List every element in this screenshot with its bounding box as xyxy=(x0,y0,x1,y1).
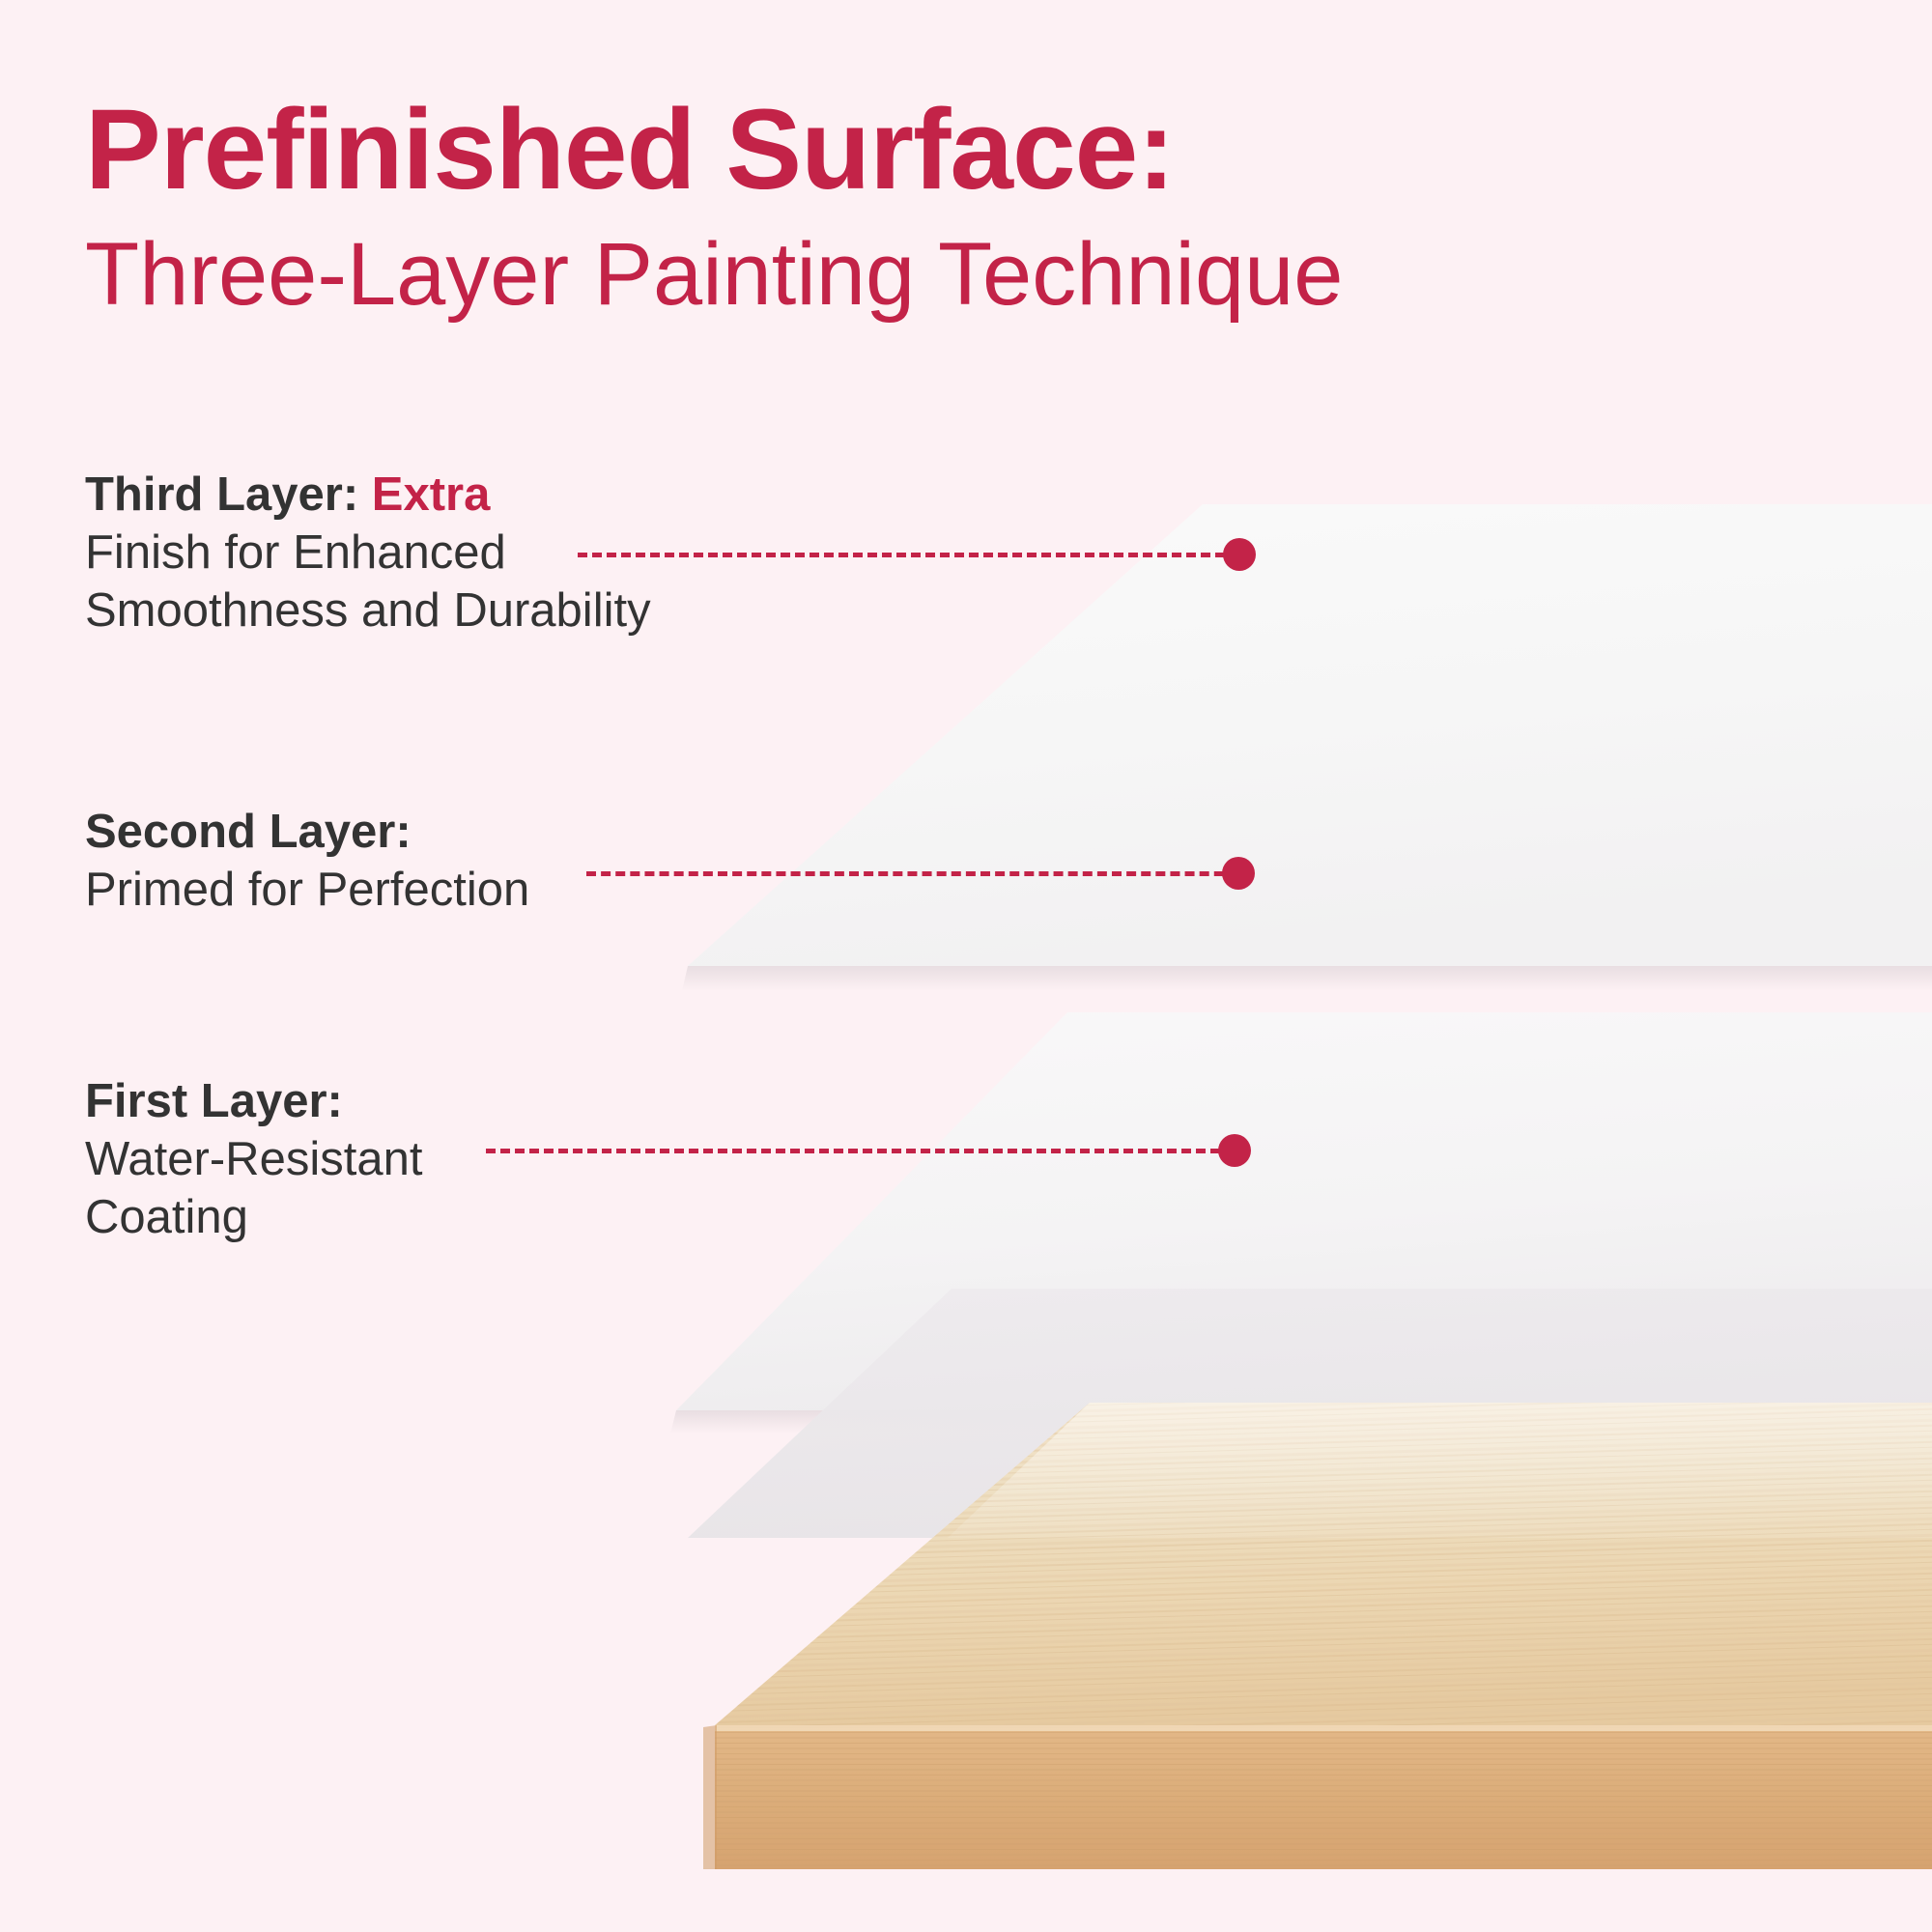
header: Prefinished Surface: Three-Layer Paintin… xyxy=(85,93,1727,322)
connector-second-layer-endpoint-dot xyxy=(1222,857,1255,890)
connector-second-layer xyxy=(586,856,1253,891)
callout-second-layer: Second Layer: Primed for Perfection xyxy=(85,804,529,920)
connector-second-layer-dashed-line xyxy=(586,871,1253,876)
infographic-canvas: Prefinished Surface: Three-Layer Paintin… xyxy=(0,0,1932,1932)
callout-first-layer: First Layer: Water-Resistant Coating xyxy=(85,1073,422,1246)
connector-first-layer xyxy=(486,1133,1249,1168)
layer-plane-third xyxy=(682,504,1932,991)
callout-second-layer-line-1: Primed for Perfection xyxy=(85,862,529,920)
callout-third-layer-heading-plain: Third Layer: xyxy=(85,469,372,521)
callout-third-layer-heading-accent: Extra xyxy=(372,469,491,521)
connector-third-layer xyxy=(578,537,1254,572)
callout-third-layer: Third Layer: Extra Finish for Enhanced S… xyxy=(85,467,651,639)
callout-third-layer-line-1: Finish for Enhanced xyxy=(85,525,651,582)
callout-third-layer-heading: Third Layer: Extra xyxy=(85,467,651,525)
connector-first-layer-dashed-line xyxy=(486,1149,1249,1153)
page-title: Prefinished Surface: xyxy=(85,93,1727,207)
callout-first-layer-heading: First Layer: xyxy=(85,1073,422,1131)
callout-first-layer-line-1: Water-Resistant xyxy=(85,1131,422,1189)
connector-first-layer-endpoint-dot xyxy=(1218,1134,1251,1167)
connector-third-layer-endpoint-dot xyxy=(1223,538,1256,571)
connector-third-layer-dashed-line xyxy=(578,553,1254,557)
callout-first-layer-line-2: Coating xyxy=(85,1189,422,1247)
callout-second-layer-heading: Second Layer: xyxy=(85,804,529,862)
callout-third-layer-line-2: Smoothness and Durability xyxy=(85,582,651,640)
page-subtitle: Three-Layer Painting Technique xyxy=(85,228,1727,322)
